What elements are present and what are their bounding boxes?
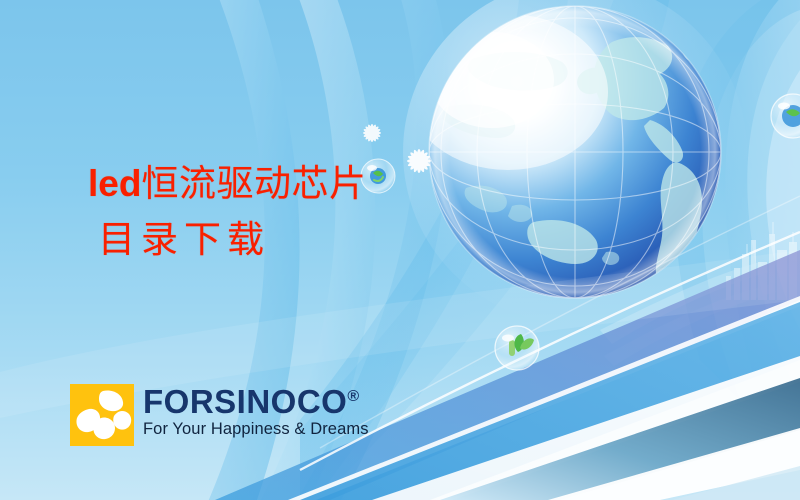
title-line-1-latin: led <box>88 163 141 204</box>
brand-word: FORSINOCO <box>143 383 347 420</box>
title-line-2: 目录下载 <box>98 219 428 263</box>
pinwheel-icon <box>70 384 134 446</box>
title-line-1: led恒流驱动芯片 <box>88 162 428 207</box>
brand-logo: FORSINOCO® For Your Happiness & Dreams <box>70 384 369 446</box>
brand-tagline: For Your Happiness & Dreams <box>143 421 369 438</box>
brand-text-block: FORSINOCO® For Your Happiness & Dreams <box>143 384 369 438</box>
bubble-sprout <box>495 326 539 370</box>
registered-trademark-icon: ® <box>347 388 359 405</box>
title-line-1-cjk: 恒流驱动芯片 <box>141 164 366 205</box>
page-title: led恒流驱动芯片 目录下载 <box>88 162 428 262</box>
brand-name: FORSINOCO® <box>143 385 369 418</box>
poster-canvas: led恒流驱动芯片 目录下载 FORSINOCO® For Your Happi… <box>0 0 800 500</box>
